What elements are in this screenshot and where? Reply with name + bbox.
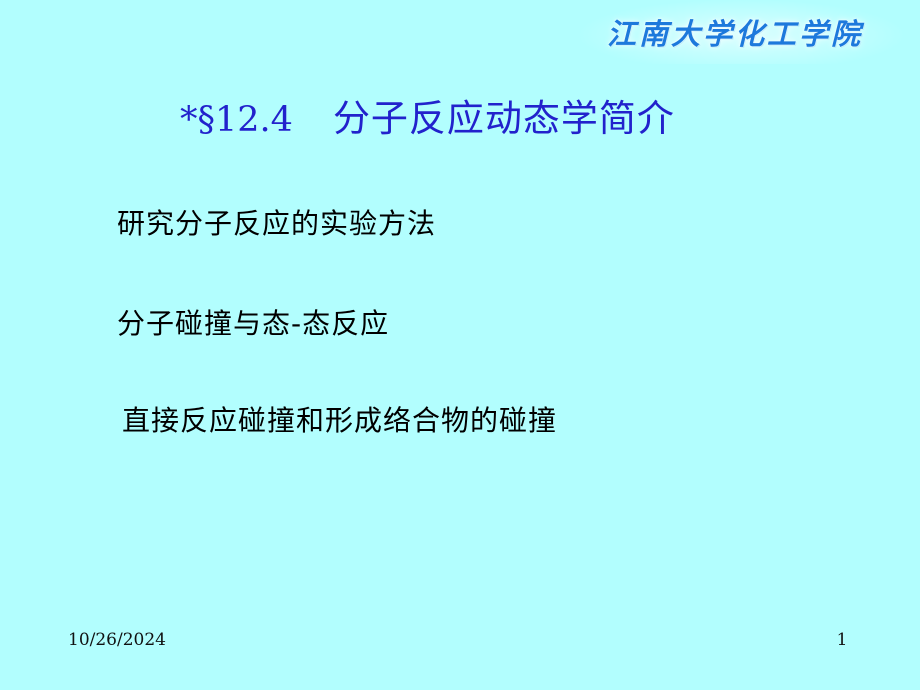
body-bullet-1: 研究分子反应的实验方法 xyxy=(117,205,436,243)
institution-logo-text: 江南大学化工学院 xyxy=(560,8,910,56)
body-bullet-3: 直接反应碰撞和形成络合物的碰撞 xyxy=(122,402,557,440)
body-bullet-2: 分子碰撞与态-态反应 xyxy=(117,305,389,343)
title-heading-text: 分子反应动态学简介 xyxy=(333,97,675,140)
presentation-slide: 江南大学化工学院 *§12.4分子反应动态学简介 研究分子反应的实验方法 分子碰… xyxy=(0,0,920,690)
footer-date: 10/26/2024 xyxy=(68,630,166,650)
title-section-marker: *§12.4 xyxy=(180,100,293,140)
slide-title: *§12.4分子反应动态学简介 xyxy=(180,92,840,146)
footer-page-number: 1 xyxy=(830,630,854,650)
